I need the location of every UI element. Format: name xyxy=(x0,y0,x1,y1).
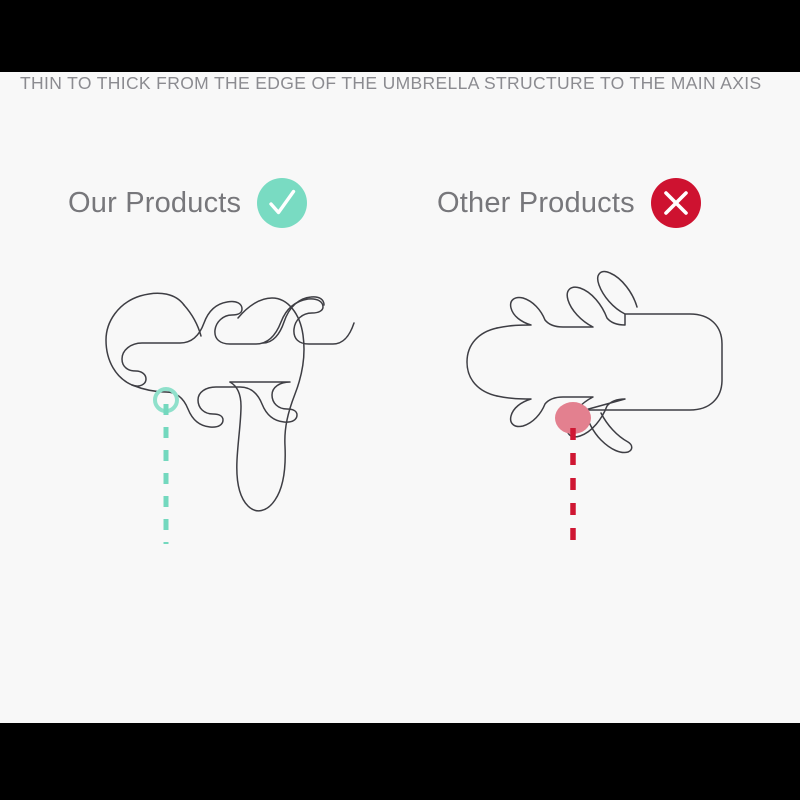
rib-outline-uniform xyxy=(467,272,722,453)
illustration-others xyxy=(435,228,735,548)
letterbox-bottom xyxy=(0,723,800,800)
page-title: THIN TO THICK FROM THE EDGE OF THE UMBRE… xyxy=(20,73,790,94)
column-header-ours: Our Products xyxy=(68,178,307,228)
rib-outline-tapered xyxy=(106,293,354,386)
column-label-ours: Our Products xyxy=(68,187,241,220)
column-header-others: Other Products xyxy=(437,178,701,228)
cross-icon xyxy=(651,178,701,228)
illustration-ours xyxy=(80,222,340,552)
check-icon xyxy=(257,178,307,228)
letterbox-top xyxy=(0,0,800,72)
column-label-others: Other Products xyxy=(437,187,635,220)
infographic-page: THIN TO THICK FROM THE EDGE OF THE UMBRE… xyxy=(0,0,800,800)
